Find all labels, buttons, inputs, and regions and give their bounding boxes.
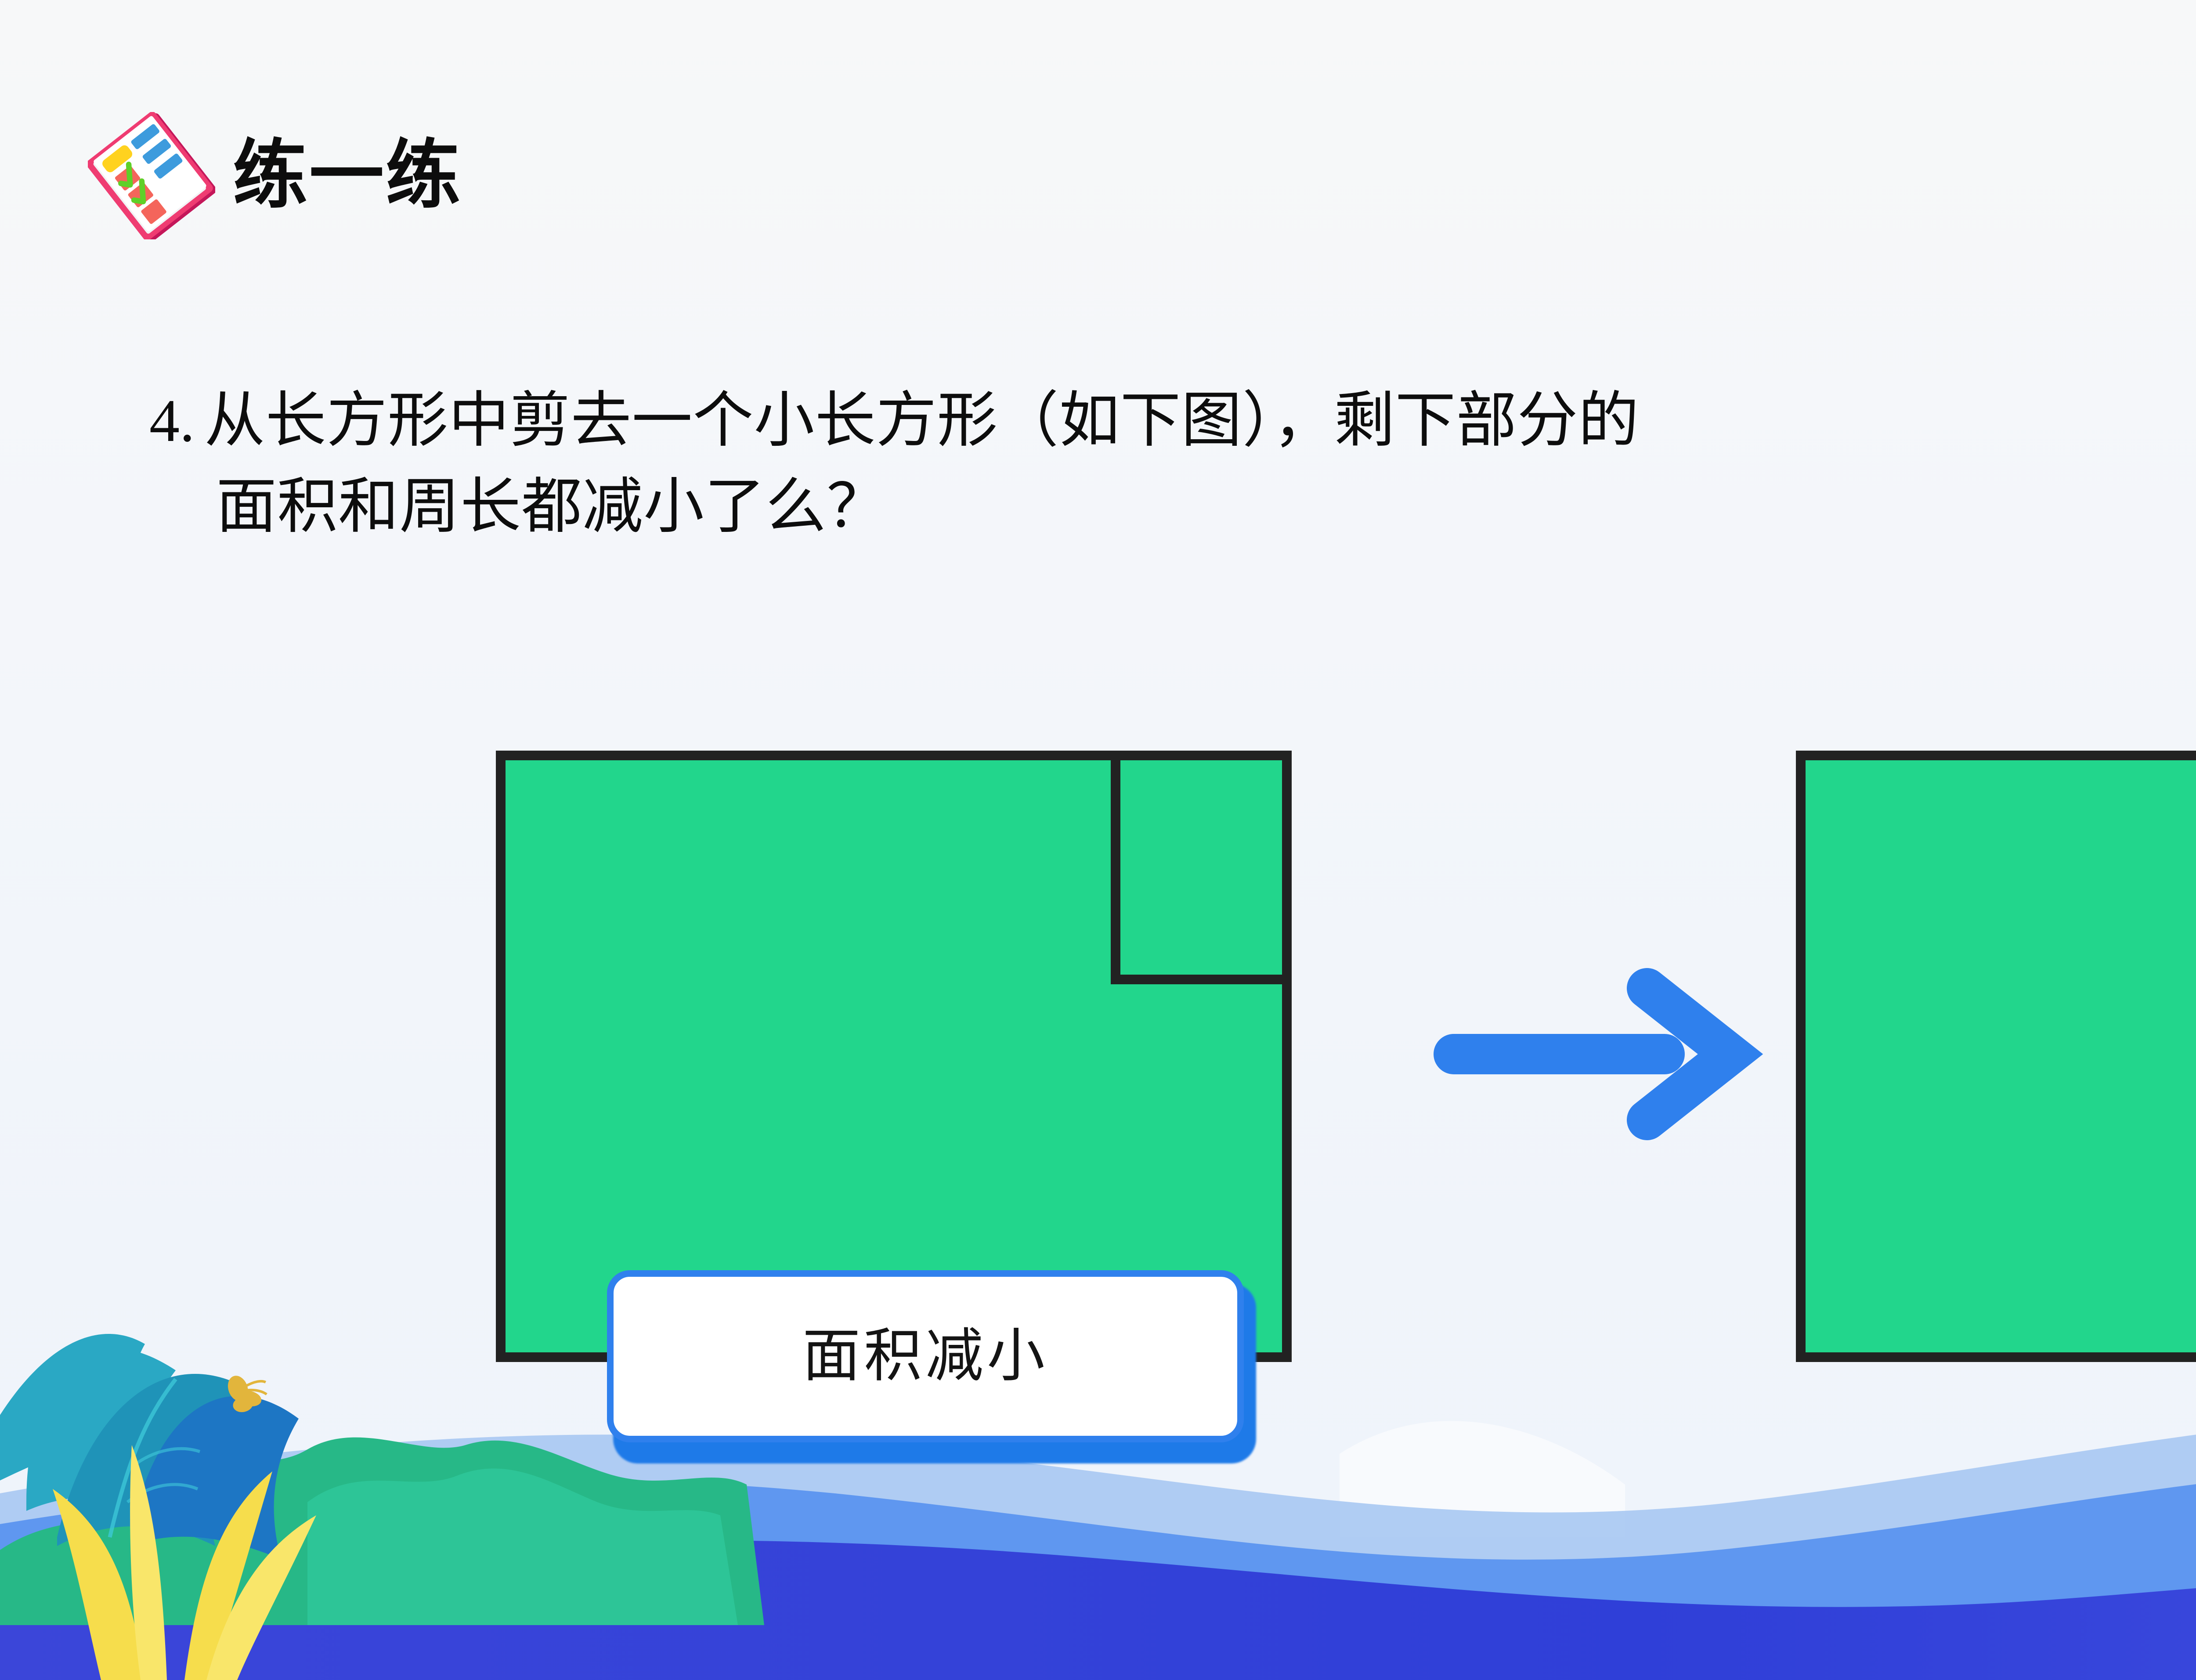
slide-root: 练一练 4. 从长方形中剪去一个小长方形（如下图），剩下部分的 面积和周长都减小… (0, 0, 2196, 1680)
transform-arrow (1454, 988, 1730, 1120)
question-text-line-1: 从长方形中剪去一个小长方形（如下图），剩下部分的 (205, 378, 1640, 464)
answer-label: 面积减小 (802, 1327, 1048, 1385)
question-text-line-2: 面积和周长都减小了么？ (216, 464, 888, 550)
question-number: 4. (149, 378, 195, 464)
figure-before (501, 755, 1287, 1357)
figure-after (1801, 755, 2196, 1357)
question-line-1: 4. 从长方形中剪去一个小长方形（如下图），剩下部分的 (149, 378, 2196, 464)
page-title: 练一练 (233, 138, 462, 213)
figures-row (483, 703, 2196, 1239)
notebook-checklist-icon (88, 112, 215, 239)
answer-button-face[interactable]: 面积减小 (607, 1270, 1244, 1442)
butterfly-gold-icon (224, 1373, 267, 1414)
question-line-2: 面积和周长都减小了么？ (149, 464, 2196, 550)
question-block: 4. 从长方形中剪去一个小长方形（如下图），剩下部分的 面积和周长都减小了么？ (149, 378, 2196, 550)
answer-button[interactable]: 面积减小 (607, 1270, 1256, 1463)
header: 练一练 (88, 112, 462, 239)
